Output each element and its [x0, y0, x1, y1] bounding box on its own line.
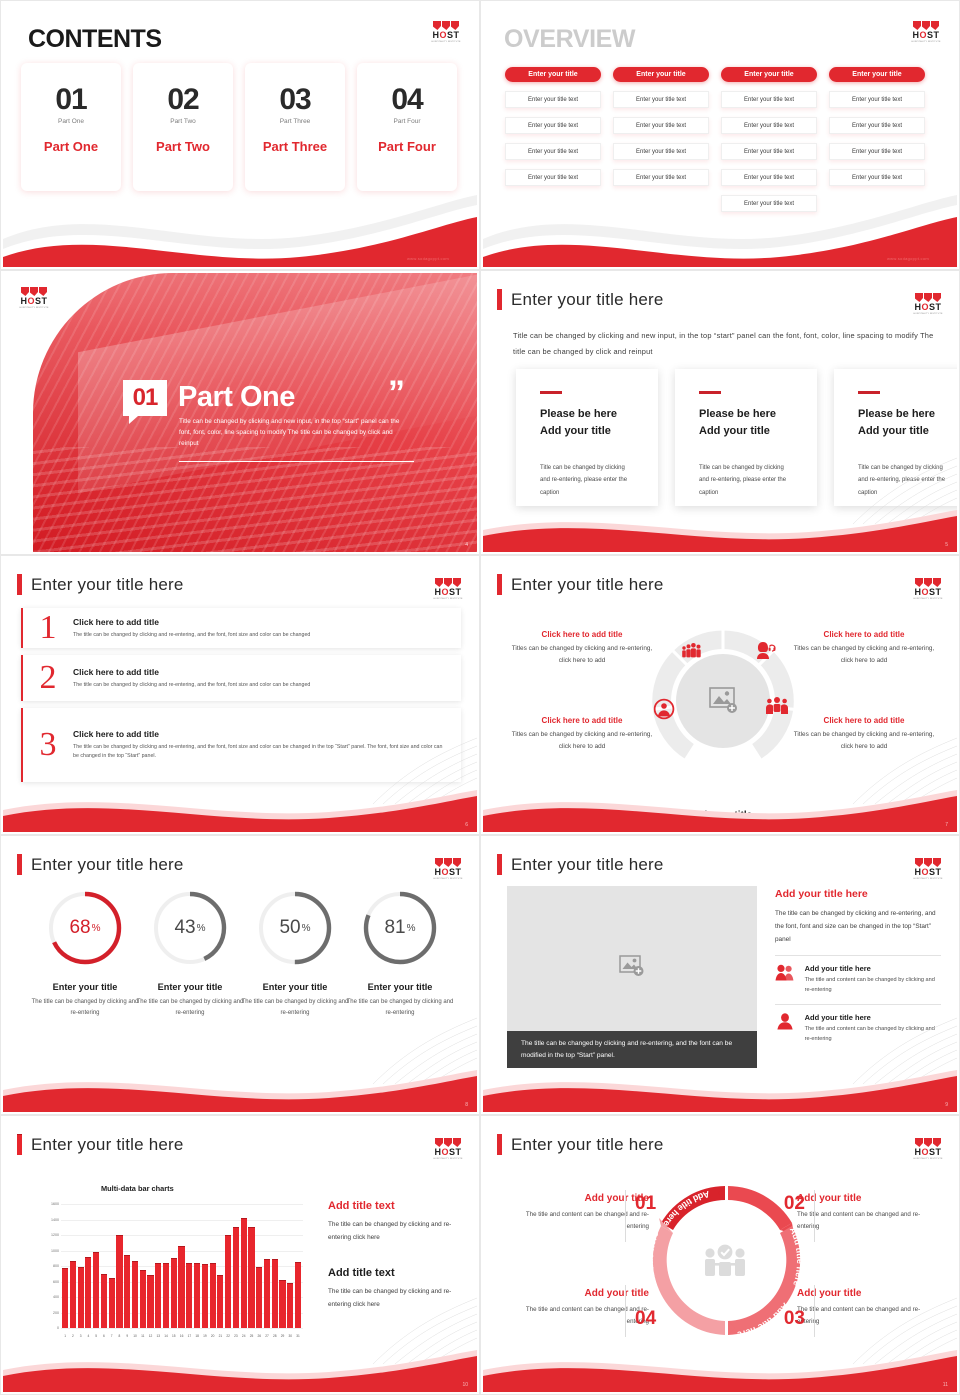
page-title-text: Enter your title here [511, 855, 664, 875]
chart-bar [256, 1267, 262, 1328]
chart-x-tick-label: 11 [140, 1334, 146, 1338]
chart-bar [279, 1280, 285, 1328]
chart-x-tick-label: 10 [132, 1334, 138, 1338]
cycle-caption-02[interactable]: Add your title The title and content can… [797, 1193, 937, 1233]
stat-title: Enter your title [344, 982, 456, 992]
page-title-text: Enter your title here [511, 575, 664, 595]
diagram-caption-bottom-left[interactable]: Click here to add title Titles can be ch… [507, 716, 657, 753]
card-subtitle: Part One [21, 118, 121, 125]
chart-bar [93, 1252, 99, 1328]
footer-wave-decoration [3, 1066, 477, 1112]
logo-tagline: HOSPITALITY INSTITUTE [913, 312, 944, 316]
chart-x-tick-label: 31 [295, 1334, 301, 1338]
chart-x-tick-label: 23 [233, 1334, 239, 1338]
overview-cell[interactable]: Enter your title text [721, 143, 817, 160]
chart-x-tick-label: 20 [210, 1334, 216, 1338]
logo-wordmark: HOST [911, 1147, 945, 1157]
overview-columns: Enter your title Enter your title text E… [505, 67, 925, 212]
info-card[interactable]: Please be here Add your title Title can … [675, 369, 817, 506]
progress-ring: 81% [360, 888, 440, 968]
logo-flags-icon [911, 293, 945, 302]
logo-tagline: HOSPITALITY INSTITUTE [913, 1157, 944, 1161]
watermark: www.sodagoppt.com [887, 256, 929, 261]
right-text-panel: Add your title here The title can be cha… [775, 888, 941, 1051]
card-subtitle: Part Three [245, 118, 345, 125]
chart-bar [241, 1218, 247, 1328]
chart-x-axis-labels: 1234567891011121314151617181920212223242… [62, 1334, 301, 1338]
stat-title: Enter your title [29, 982, 141, 992]
overview-column: Enter your title Enter your title text E… [829, 67, 925, 212]
stat-description: The title can be changed by clicking and… [134, 997, 246, 1019]
logo-flags-icon [911, 858, 945, 867]
logo-wordmark: HOST [911, 302, 945, 312]
card-title-line1: Please be here [858, 408, 935, 420]
divider [625, 1285, 626, 1337]
footer-wave-decoration [3, 1346, 477, 1392]
slide-circle-diagram[interactable]: Enter your title here HOST HOSPITALITY I… [480, 555, 960, 835]
column-title-pill[interactable]: Enter your title [613, 67, 709, 82]
title-accent-bar [17, 854, 22, 875]
logo-wordmark: HOST [431, 587, 465, 597]
bar-chart-plot: 16001400120010008006004002000 1234567891… [33, 1202, 303, 1342]
overview-cell[interactable]: Enter your title text [721, 91, 817, 108]
chart-x-tick-label: 25 [248, 1334, 254, 1338]
woman-headset-icon [755, 640, 777, 660]
stat-unit[interactable]: 50% Enter your title The title can be ch… [239, 888, 351, 1019]
page-title: Enter your title here [497, 289, 664, 310]
chart-bar [171, 1258, 177, 1328]
person-circle-icon [653, 698, 675, 720]
cycle-caption-03[interactable]: Add your title The title and content can… [797, 1288, 937, 1328]
title-accent-bar [497, 1134, 502, 1155]
logo-flags-icon [909, 21, 943, 30]
card-dash-rule [540, 391, 562, 394]
chart-bar [140, 1270, 146, 1328]
item-number: 3 [23, 726, 73, 764]
list-item-description: The title and content can be changed by … [805, 975, 941, 995]
footer-wave-decoration [3, 786, 477, 832]
chart-bar [210, 1263, 216, 1328]
diagram-caption-top-right[interactable]: Click here to add title Titles can be ch… [789, 630, 939, 667]
page-title-text: Enter your title here [31, 855, 184, 875]
slide-deck-grid: CONTENTS HOST HOSPITALITY INSTITUTE 01 P… [0, 0, 960, 1400]
title-accent-bar [17, 1134, 22, 1155]
list-item[interactable]: 3 Click here to add title The title can … [21, 708, 461, 782]
chart-x-tick-label: 17 [186, 1334, 192, 1338]
item-description: The title can be changed by clicking and… [73, 681, 447, 690]
slide-percentage-rings[interactable]: Enter your title here HOST HOSPITALITY I… [0, 835, 480, 1115]
card-label: Part Three [245, 139, 345, 154]
card-title-line2: Add your title [540, 425, 611, 437]
chart-bar [186, 1263, 192, 1328]
item-description: The title can be changed by clicking and… [73, 631, 447, 640]
chart-y-tick-label: 1000 [33, 1249, 59, 1253]
chart-x-tick-label: 14 [163, 1334, 169, 1338]
stat-description: The title can be changed by clicking and… [29, 997, 141, 1019]
stat-description: The title can be changed by clicking and… [344, 997, 456, 1019]
overview-cell[interactable]: Enter your title text [721, 169, 817, 186]
list-item-title: Add your title here [805, 1013, 941, 1022]
slide-cycle-diagram[interactable]: Enter your title here HOST HOSPITALITY I… [480, 1115, 960, 1395]
side-paragraph-1: The title can be changed by clicking and… [328, 1218, 471, 1244]
overview-column: Enter your title Enter your title text E… [613, 67, 709, 212]
footer-wave-decoration [483, 1346, 957, 1392]
chart-x-tick-label: 1 [62, 1334, 68, 1338]
chart-bar [109, 1278, 115, 1328]
chart-bar [163, 1263, 169, 1328]
watermark: www.sodagoppt.com [407, 256, 449, 261]
chart-x-tick-label: 3 [78, 1334, 84, 1338]
page-number: 10 [462, 1382, 468, 1388]
side-heading-2: Add title text [328, 1267, 471, 1279]
chart-x-tick-label: 9 [124, 1334, 130, 1338]
progress-ring: 68% [45, 888, 125, 968]
card-description: Title can be changed by clicking and re-… [699, 462, 793, 500]
overview-cell[interactable]: Enter your title text [613, 143, 709, 160]
chart-y-tick-label: 1200 [33, 1233, 59, 1237]
overview-cell[interactable]: Enter your title text [505, 143, 601, 160]
caption-text: Titles can be changed by clicking and re… [789, 643, 939, 667]
side-heading-1: Add title text [328, 1200, 471, 1212]
overview-cell[interactable]: Enter your title text [829, 143, 925, 160]
chart-side-text: Add title text The title can be changed … [328, 1200, 471, 1311]
overview-cell[interactable]: Enter your title text [613, 169, 709, 186]
percent-value: 43% [150, 888, 230, 968]
chart-x-tick-label: 18 [194, 1334, 200, 1338]
group-people-icon [681, 643, 703, 659]
host-logo: HOST HOSPITALITY INSTITUTE [431, 858, 465, 884]
chart-y-tick-label: 600 [33, 1280, 59, 1284]
item-body: Click here to add title The title can be… [73, 667, 461, 690]
quote-mark-icon: ” [388, 378, 405, 408]
page-title: Enter your title here [17, 854, 184, 875]
overview-cell[interactable]: Enter your title text [721, 117, 817, 134]
progress-ring: 50% [255, 888, 335, 968]
card-title-line2: Add your title [699, 425, 770, 437]
list-item[interactable]: 2 Click here to add title The title can … [21, 655, 461, 701]
diagram-caption-bottom-right[interactable]: Click here to add title Titles can be ch… [789, 716, 939, 753]
page-title: Enter your title here [497, 1134, 664, 1155]
divider [625, 1190, 626, 1242]
contents-card[interactable]: 01 Part One Part One [21, 63, 121, 191]
logo-flags-icon [911, 578, 945, 587]
footer-wave-decoration [3, 187, 477, 267]
logo-wordmark: HOST [429, 30, 463, 40]
chart-bar [132, 1261, 138, 1328]
overview-column: Enter your title Enter your title text E… [721, 67, 817, 212]
chart-bar [248, 1227, 254, 1328]
progress-ring: 43% [150, 888, 230, 968]
chart-y-tick-label: 1400 [33, 1218, 59, 1222]
card-number: 04 [357, 85, 457, 115]
list-item[interactable]: Add your title here The title and conten… [775, 1013, 941, 1044]
title-accent-bar [497, 289, 502, 310]
stat-title: Enter your title [239, 982, 351, 992]
stat-description: The title can be changed by clicking and… [239, 997, 351, 1019]
slide-overview[interactable]: OVERVIEW HOST HOSPITALITY INSTITUTE Ente… [480, 0, 960, 270]
logo-tagline: HOSPITALITY INSTITUTE [433, 1157, 464, 1161]
two-people-icon [775, 964, 796, 985]
caption-text: Titles can be changed by clicking and re… [507, 643, 657, 667]
chart-x-tick-label: 7 [109, 1334, 115, 1338]
card-number: 01 [21, 85, 121, 115]
list-item-body: Add your title here The title and conten… [805, 1013, 941, 1044]
host-logo: HOST HOSPITALITY INSTITUTE [429, 21, 463, 47]
host-logo: HOST HOSPITALITY INSTITUTE [911, 578, 945, 604]
contents-card[interactable]: 04 Part Four Part Four [357, 63, 457, 191]
list-item-title: Add your title here [805, 964, 941, 973]
page-title: CONTENTS [28, 25, 162, 54]
card-title: Please be here Add your title [699, 406, 793, 440]
caption-text: The title and content can be changed and… [797, 1304, 937, 1328]
overview-cell[interactable]: Enter your title text [505, 169, 601, 186]
right-paragraph: The title can be changed by clicking and… [775, 907, 941, 946]
chart-bar [124, 1255, 130, 1328]
card-number: 03 [245, 85, 345, 115]
chart-bar [147, 1275, 153, 1328]
chart-bar [116, 1235, 122, 1328]
slide-bar-chart[interactable]: Enter your title here HOST HOSPITALITY I… [0, 1115, 480, 1395]
overview-cell[interactable]: Enter your title text [505, 91, 601, 108]
card-title: Please be here Add your title [540, 406, 634, 440]
caption-text: The title and content can be changed and… [509, 1304, 649, 1328]
logo-tagline: HOSPITALITY INSTITUTE [19, 306, 50, 310]
page-title: Enter your title here [17, 1134, 184, 1155]
page-title: Enter your title here [497, 574, 664, 595]
chart-x-tick-label: 12 [147, 1334, 153, 1338]
image-caption: The title can be changed by clicking and… [507, 1031, 757, 1068]
chart-x-tick-label: 19 [202, 1334, 208, 1338]
caption-heading: Click here to add title [789, 630, 939, 639]
logo-flags-icon [429, 21, 463, 30]
card-number: 02 [133, 85, 233, 115]
column-title-pill[interactable]: Enter your title [505, 67, 601, 82]
chart-y-tick-label: 800 [33, 1264, 59, 1268]
page-title: Enter your title here [17, 574, 184, 595]
diagram-center-label: Add your title [483, 810, 957, 821]
title-accent-bar [17, 574, 22, 595]
stat-unit[interactable]: 81% Enter your title The title can be ch… [344, 888, 456, 1019]
percent-value: 68% [45, 888, 125, 968]
percent-value: 81% [360, 888, 440, 968]
item-body: Click here to add title The title can be… [73, 729, 461, 761]
card-dash-rule [699, 391, 721, 394]
overview-cell[interactable]: Enter your title text [721, 195, 817, 212]
logo-wordmark: HOST [431, 1147, 465, 1157]
cycle-caption-04[interactable]: Add your title The title and content can… [509, 1288, 649, 1328]
handshake-people-icon [765, 696, 789, 718]
chart-bar [78, 1267, 84, 1328]
chart-y-tick-label: 200 [33, 1311, 59, 1315]
chart-x-tick-label: 15 [171, 1334, 177, 1338]
chart-x-tick-label: 28 [272, 1334, 278, 1338]
logo-flags-icon [431, 1138, 465, 1147]
host-logo: HOST HOSPITALITY INSTITUTE [431, 578, 465, 604]
card-subtitle: Part Two [133, 118, 233, 125]
slide-numbered-list[interactable]: Enter your title here HOST HOSPITALITY I… [0, 555, 480, 835]
card-label: Part Four [357, 139, 457, 154]
chart-bar [287, 1283, 293, 1328]
card-row: Please be here Add your title Title can … [516, 369, 957, 506]
chart-bar [178, 1246, 184, 1328]
overview-cell[interactable]: Enter your title text [613, 117, 709, 134]
logo-tagline: HOSPITALITY INSTITUTE [913, 597, 944, 601]
logo-wordmark: HOST [911, 867, 945, 877]
title-accent-bar [497, 854, 502, 875]
slide-section-part-one[interactable]: HOST HOSPITALITY INSTITUTE 01 Part One ”… [0, 270, 480, 555]
caption-text: The title and content can be changed and… [797, 1209, 937, 1233]
chart-x-tick-label: 4 [85, 1334, 91, 1338]
chart-y-tick-label: 1600 [33, 1202, 59, 1206]
contents-card[interactable]: 02 Part Two Part Two [133, 63, 233, 191]
caption-text: The title and content can be changed and… [509, 1209, 649, 1233]
info-card[interactable]: Please be here Add your title Title can … [834, 369, 957, 506]
slide-three-cards[interactable]: Enter your title here HOST HOSPITALITY I… [480, 270, 960, 555]
page-title-text: Enter your title here [31, 575, 184, 595]
contents-card-list: 01 Part One Part One 02 Part Two Part Tw… [21, 63, 457, 191]
footer-wave-decoration [483, 506, 957, 552]
page-number: 9 [945, 1102, 948, 1108]
card-title-line1: Please be here [540, 408, 617, 420]
chart-x-tick-label: 2 [70, 1334, 76, 1338]
caption-heading: Add your title [797, 1193, 937, 1204]
chart-x-tick-label: 26 [256, 1334, 262, 1338]
page-title-text: Enter your title here [31, 1135, 184, 1155]
right-heading: Add your title here [775, 888, 941, 900]
item-title: Click here to add title [73, 667, 447, 677]
section-description: Title can be changed by clicking and new… [179, 416, 404, 449]
chart-title: Multi-data bar charts [101, 1184, 174, 1193]
overview-column: Enter your title Enter your title text E… [505, 67, 601, 212]
card-title-line2: Add your title [858, 425, 929, 437]
contents-card[interactable]: 03 Part Three Part Three [245, 63, 345, 191]
title-accent-bar [497, 574, 502, 595]
column-title-pill[interactable]: Enter your title [721, 67, 817, 82]
overview-cell[interactable]: Enter your title text [829, 91, 925, 108]
caption-heading: Add your title [509, 1193, 649, 1204]
logo-tagline: HOSPITALITY INSTITUTE [433, 597, 464, 601]
diagram-caption-top-left[interactable]: Click here to add title Titles can be ch… [507, 630, 657, 667]
chart-x-tick-label: 13 [155, 1334, 161, 1338]
hatch-decoration [327, 1012, 477, 1084]
chart-bar [194, 1263, 200, 1328]
host-logo: HOST HOSPITALITY INSTITUTE [431, 1138, 465, 1164]
chart-x-tick-label: 16 [178, 1334, 184, 1338]
item-number: 1 [23, 609, 73, 647]
footer-wave-decoration [483, 786, 957, 832]
overview-cell[interactable]: Enter your title text [613, 91, 709, 108]
chart-bar [225, 1235, 231, 1328]
side-paragraph-2: The title can be changed by clicking and… [328, 1285, 471, 1311]
overview-cell[interactable]: Enter your title text [829, 169, 925, 186]
card-dash-rule [858, 391, 880, 394]
chart-x-tick-label: 30 [287, 1334, 293, 1338]
logo-flags-icon [911, 1138, 945, 1147]
caption-heading: Add your title [509, 1288, 649, 1299]
page-number: 4 [465, 542, 468, 548]
page-title-text: Enter your title here [511, 290, 664, 310]
logo-wordmark: HOST [911, 587, 945, 597]
chart-gridline [61, 1328, 303, 1329]
page-number: 6 [465, 822, 468, 828]
lead-paragraph: Title can be changed by clicking and new… [513, 328, 938, 360]
section-underline [179, 461, 414, 462]
overview-cell[interactable]: Enter your title text [829, 117, 925, 134]
section-number-badge: 01 [123, 380, 167, 416]
item-title: Click here to add title [73, 617, 447, 627]
list-item[interactable]: Add your title here The title and conten… [775, 964, 941, 995]
logo-tagline: HOSPITALITY INSTITUTE [913, 877, 944, 881]
chart-x-tick-label: 27 [264, 1334, 270, 1338]
page-title: OVERVIEW [504, 25, 635, 54]
list-item-body: Add your title here The title and conten… [805, 964, 941, 995]
caption-heading: Click here to add title [507, 630, 657, 639]
slide-image-and-list[interactable]: Enter your title here HOST HOSPITALITY I… [480, 835, 960, 1115]
info-card[interactable]: Please be here Add your title Title can … [516, 369, 658, 506]
logo-flags-icon [17, 287, 51, 296]
chart-bars [62, 1204, 301, 1328]
cycle-arrow-diagram[interactable]: Add title here Add title here Add title … [640, 1176, 810, 1346]
host-logo: HOST HOSPITALITY INSTITUTE [911, 293, 945, 319]
chart-y-tick-label: 400 [33, 1295, 59, 1299]
chart-x-tick-label: 21 [217, 1334, 223, 1338]
caption-heading: Add your title [797, 1288, 937, 1299]
divider [775, 955, 941, 956]
logo-wordmark: HOST [909, 30, 943, 40]
stat-title: Enter your title [134, 982, 246, 992]
chart-y-tick-label: 0 [33, 1326, 59, 1330]
page-number: 5 [945, 542, 948, 548]
list-item-description: The title and content can be changed by … [805, 1024, 941, 1044]
caption-text: Titles can be changed by clicking and re… [507, 729, 657, 753]
card-title: Please be here Add your title [858, 406, 952, 440]
host-logo: HOST HOSPITALITY INSTITUTE [909, 21, 943, 47]
chart-x-tick-label: 5 [93, 1334, 99, 1338]
slide-contents[interactable]: CONTENTS HOST HOSPITALITY INSTITUTE 01 P… [0, 0, 480, 270]
column-title-pill[interactable]: Enter your title [829, 67, 925, 82]
divider [814, 1285, 815, 1337]
chart-bar [101, 1274, 107, 1328]
stat-unit[interactable]: 43% Enter your title The title can be ch… [134, 888, 246, 1019]
card-description: Title can be changed by clicking and re-… [540, 462, 634, 500]
chart-bar [70, 1261, 76, 1328]
image-placeholder-icon [619, 955, 645, 977]
cycle-caption-01[interactable]: Add your title The title and content can… [509, 1193, 649, 1233]
percent-value: 50% [255, 888, 335, 968]
caption-heading: Click here to add title [789, 716, 939, 725]
footer-wave-decoration [483, 1066, 957, 1112]
logo-tagline: HOSPITALITY INSTITUTE [431, 40, 462, 44]
chart-x-tick-label: 6 [101, 1334, 107, 1338]
stat-unit[interactable]: 68% Enter your title The title can be ch… [29, 888, 141, 1019]
overview-cell[interactable]: Enter your title text [505, 117, 601, 134]
section-title: Part One [178, 381, 295, 414]
chart-bar [202, 1264, 208, 1328]
card-title-line1: Please be here [699, 408, 776, 420]
card-subtitle: Part Four [357, 118, 457, 125]
item-description: The title can be changed by clicking and… [73, 743, 447, 761]
item-title: Click here to add title [73, 729, 447, 739]
caption-text: Titles can be changed by clicking and re… [789, 729, 939, 753]
chart-x-tick-label: 24 [241, 1334, 247, 1338]
chart-x-tick-label: 29 [279, 1334, 285, 1338]
card-description: Title can be changed by clicking and re-… [858, 462, 952, 500]
chart-bar [155, 1263, 161, 1328]
card-label: Part One [21, 139, 121, 154]
logo-wordmark: HOST [17, 296, 51, 306]
list-item[interactable]: 1 Click here to add title The title can … [21, 608, 461, 648]
logo-wordmark: HOST [431, 867, 465, 877]
